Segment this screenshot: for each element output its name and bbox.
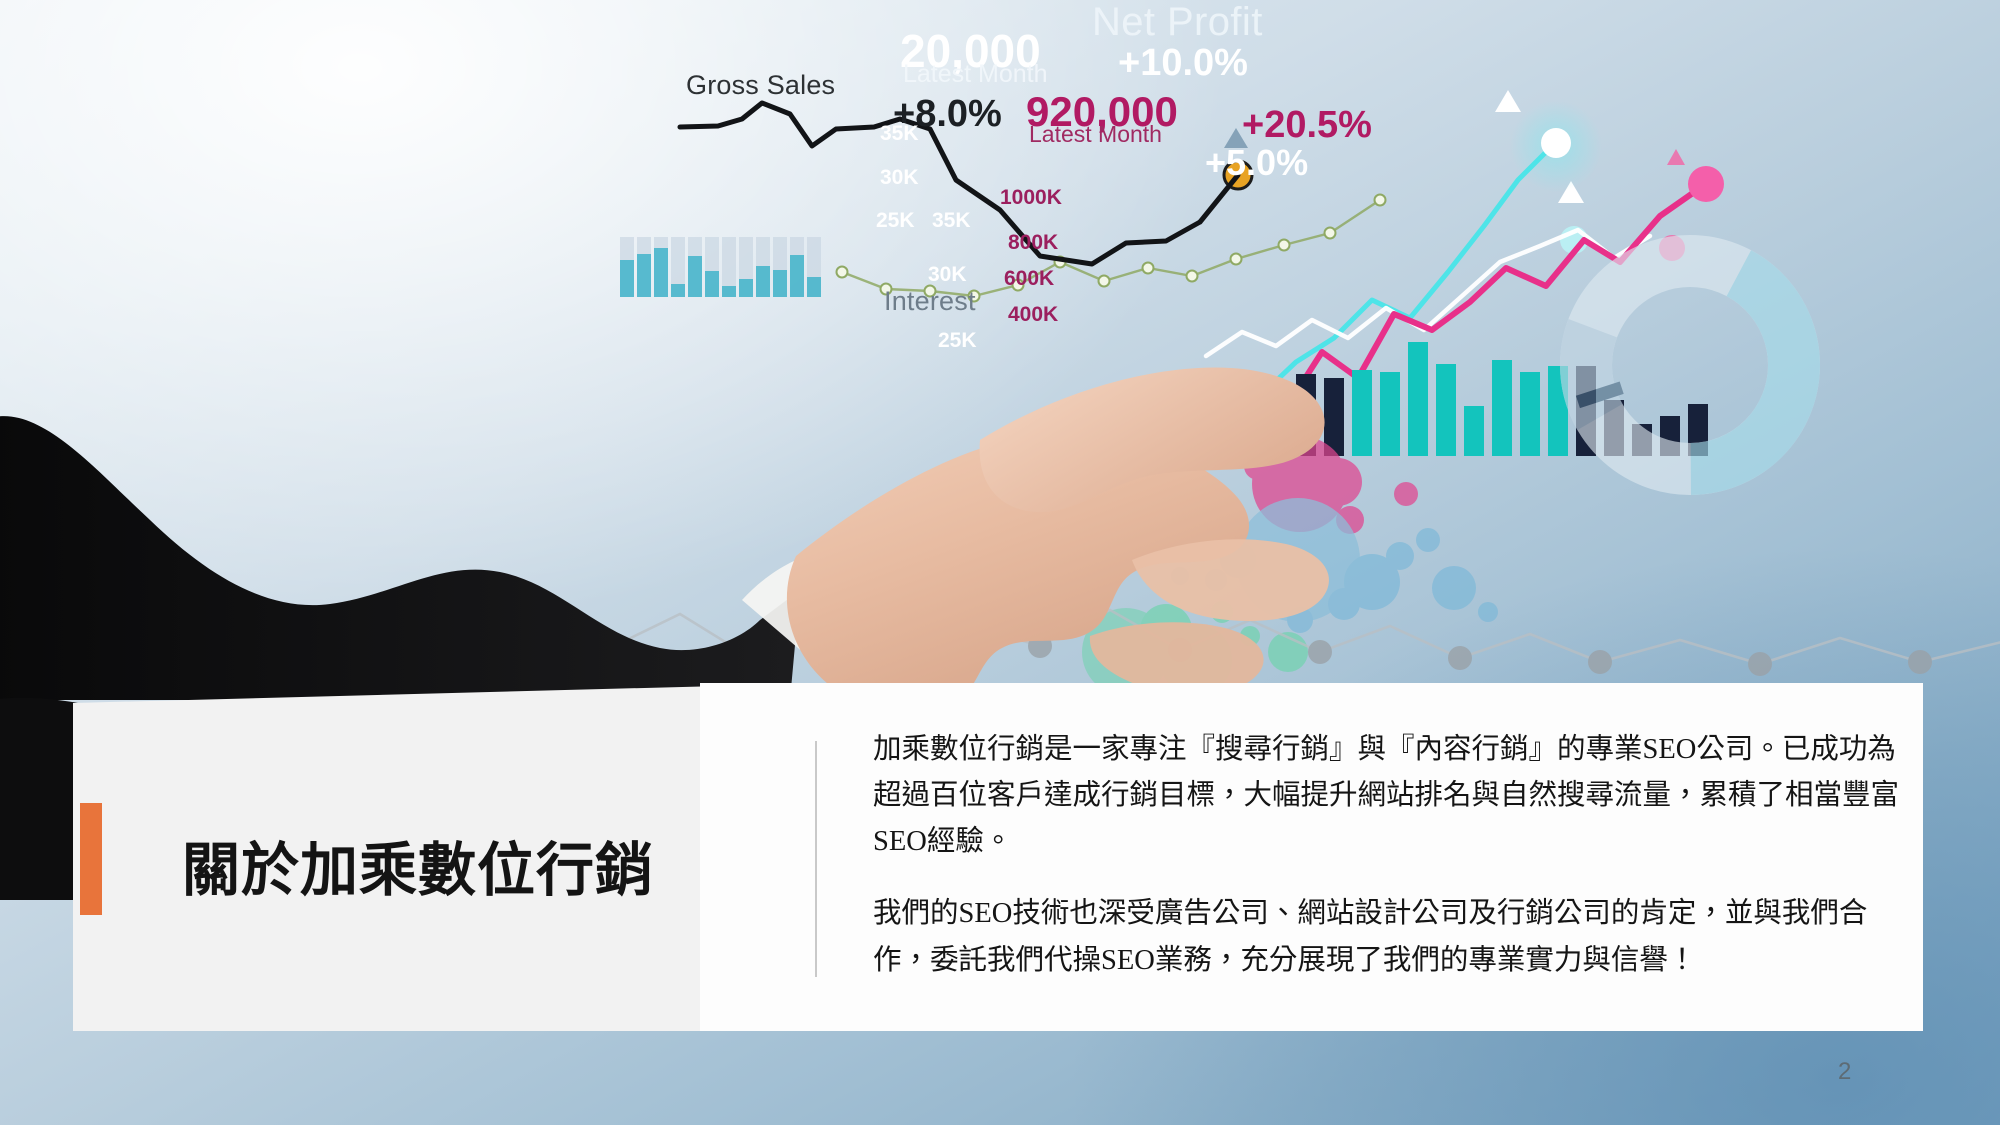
accent-bar [80,803,102,915]
net-profit-change-value: +10.0% [1118,42,1248,85]
slide-canvas: Gross Sales Interest Net Profit 20,000 L… [0,0,2000,1125]
body-paragraph-1: 加乘數位行銷是一家專注『搜尋行銷』與『內容行銷』的專業SEO公司。已成功為超過百… [873,727,1913,865]
axis-label-600k: 600K [1004,267,1054,291]
white-zigzag-line [1206,230,1650,356]
axis-label-30k-b: 30K [928,263,967,287]
node-network [0,608,2000,676]
gross-sales-label: Gross Sales [686,70,835,101]
gross-sales-latest-caption: Latest Month [903,60,1048,89]
net-profit-label: Net Profit [1092,0,1263,45]
vertical-divider [815,741,817,977]
center-bar-chart [1240,342,1708,456]
axis-label-25k-b: 25K [938,329,977,353]
axis-label-35k-b: 35K [932,209,971,233]
axis-label-1000k: 1000K [1000,186,1062,210]
revenue-latest-caption: Latest Month [1029,121,1162,148]
body-text: 加乘數位行銷是一家專注『搜尋行銷』與『內容行銷』的專業SEO公司。已成功為超過百… [873,727,1913,984]
secondary-change-value: +5.0% [1205,142,1308,184]
axis-label-35k-a: 35K [880,122,919,146]
axis-label-25k-a: 25K [876,209,915,233]
bubble-cluster [1082,436,1498,696]
axis-label-800k: 800K [1008,231,1058,255]
axis-label-400k: 400K [1008,303,1058,327]
page-number: 2 [1838,1058,1851,1086]
page-title: 關於加乘數位行銷 [182,839,782,903]
interest-label: Interest [884,286,976,317]
magenta-growth-line [1214,166,1724,436]
donut-chart [1548,223,1832,507]
left-bar-chart [620,237,821,297]
body-paragraph-2: 我們的SEO技術也深受廣告公司、網站設計公司及行銷公司的肯定，並與我們合作，委託… [873,891,1913,983]
axis-label-30k-a: 30K [880,166,919,190]
revenue-change-value: +20.5% [1242,104,1372,147]
